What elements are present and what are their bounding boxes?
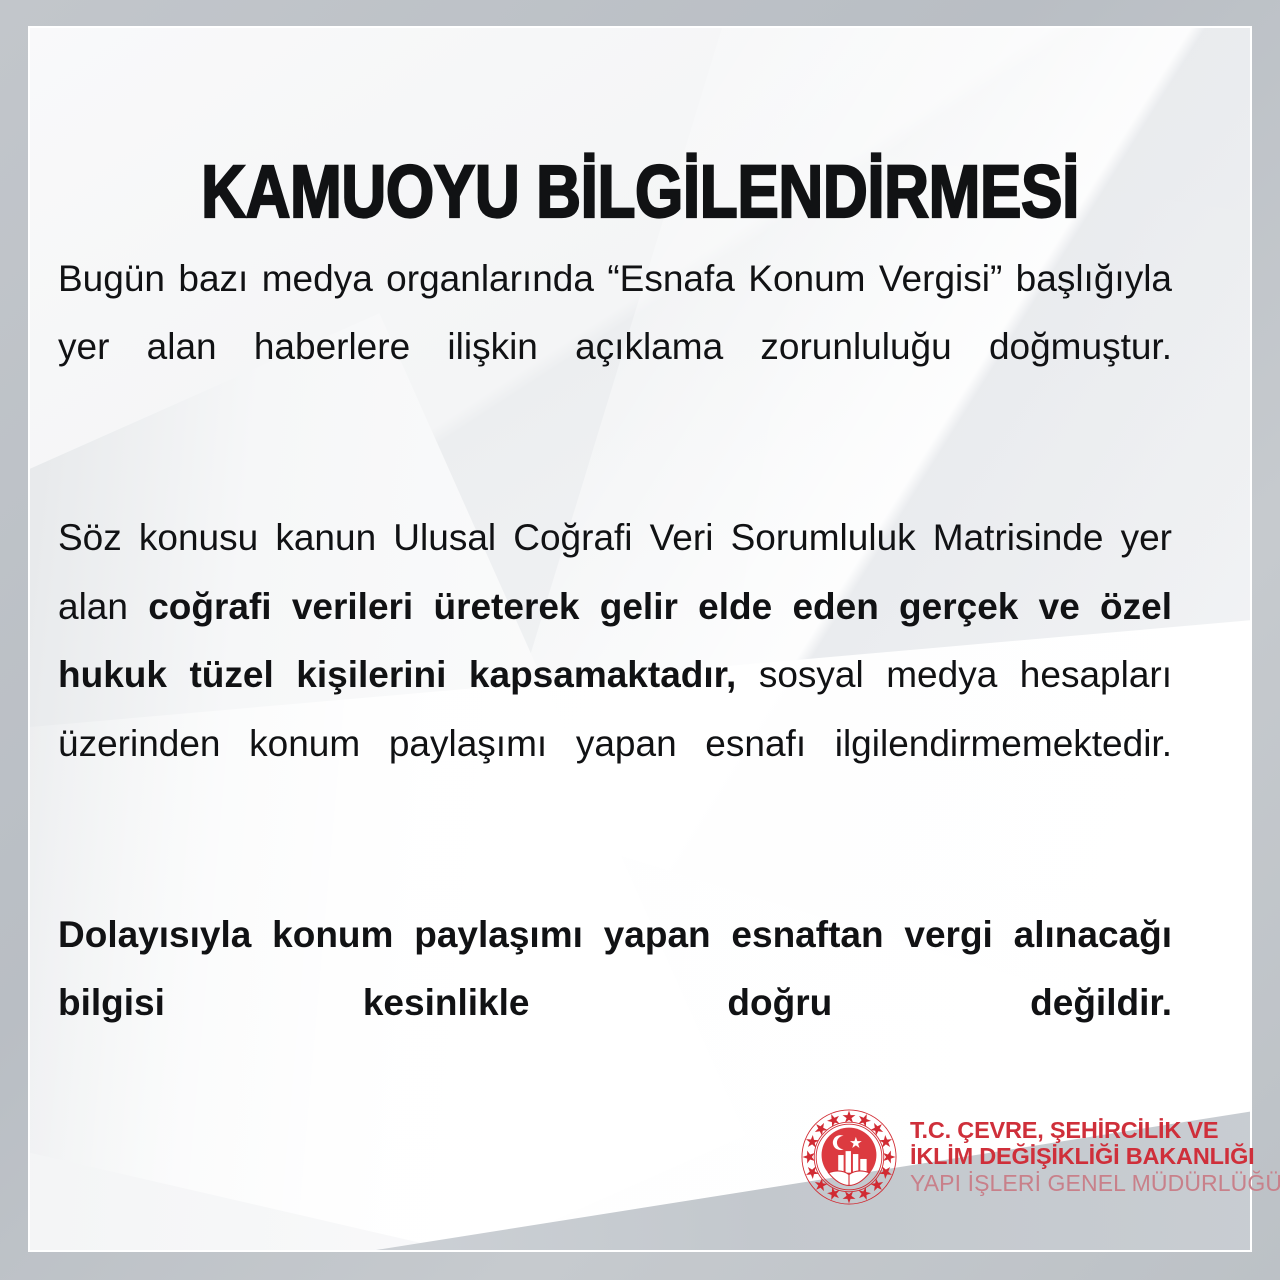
- announcement-body: Bugün bazı medya organlarında “Esnafa Ko…: [58, 245, 1172, 1106]
- ministry-name-line-2: İKLİM DEĞİŞİKLİĞİ BAKANLIĞI: [910, 1144, 1280, 1169]
- page-title: KAMUOYU BİLGİLENDİRMESİ: [102, 155, 1177, 229]
- paragraph-3-text: Dolayısıyla konum paylaşımı yapan esnaft…: [58, 914, 1172, 1023]
- paragraph-1-text: Bugün bazı medya organlarında “Esnafa Ko…: [58, 258, 1172, 367]
- ministry-name-line-1: T.C. ÇEVRE, ŞEHİRCİLİK VE: [910, 1118, 1280, 1143]
- paragraph-3: Dolayısıyla konum paylaşımı yapan esnaft…: [58, 901, 1172, 1106]
- paragraph-2: Söz konusu kanun Ulusal Coğrafi Veri Sor…: [58, 504, 1172, 846]
- ministry-logo-text: T.C. ÇEVRE, ŞEHİRCİLİK VE İKLİM DEĞİŞİKL…: [910, 1118, 1280, 1196]
- tc-ministry-emblem-icon: [800, 1108, 898, 1206]
- ministry-logo: T.C. ÇEVRE, ŞEHİRCİLİK VE İKLİM DEĞİŞİKL…: [800, 1108, 1280, 1206]
- paragraph-1: Bugün bazı medya organlarında “Esnafa Ko…: [58, 245, 1172, 450]
- poster-content: KAMUOYU BİLGİLENDİRMESİ Bugün bazı medya…: [0, 0, 1280, 1280]
- announcement-poster: KAMUOYU BİLGİLENDİRMESİ Bugün bazı medya…: [0, 0, 1280, 1280]
- directorate-name: YAPI İŞLERİ GENEL MÜDÜRLÜĞÜ: [910, 1171, 1280, 1196]
